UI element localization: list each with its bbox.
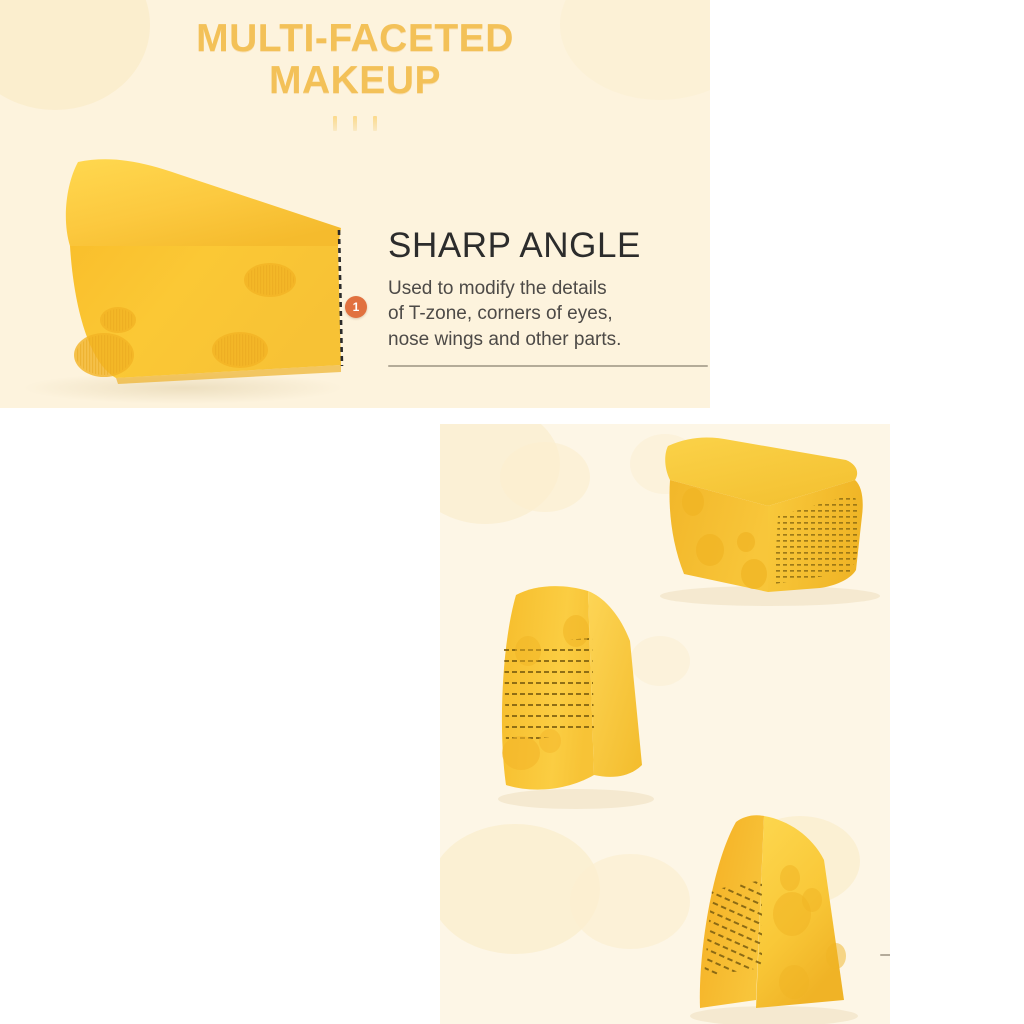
sponge-plane-image (678, 804, 868, 1024)
title-divider-ticks (0, 116, 710, 134)
infographic-stage: MULTI-FACETED MAKEUP (0, 0, 1024, 1024)
sponge-sharp-angle-image (8, 150, 368, 400)
callout-rule (880, 954, 890, 956)
title-line-1: MULTI-FACETED (0, 18, 710, 60)
panel-arc-side-plane: ARC Apply makeup on forehead and cheeks. (440, 424, 890, 1024)
sponge-side-image (488, 579, 668, 809)
tick-mark (333, 116, 337, 131)
tick-mark (353, 116, 357, 131)
callout-sharp-angle: SHARP ANGLE Used to modify the details o… (388, 228, 708, 367)
background-blob (500, 442, 590, 512)
background-blob (570, 854, 690, 949)
badge-number-1: 1 (345, 296, 367, 318)
sponge-arc-image (650, 424, 890, 604)
callout-rule (388, 365, 708, 367)
tick-mark (373, 116, 377, 131)
page-title: MULTI-FACETED MAKEUP (0, 18, 710, 134)
callout-description: Used to modify the details of T-zone, co… (388, 276, 708, 352)
panel-sharp-angle: MULTI-FACETED MAKEUP (0, 0, 710, 408)
callout-heading: SHARP ANGLE (388, 228, 708, 263)
title-line-2: MAKEUP (0, 60, 710, 102)
